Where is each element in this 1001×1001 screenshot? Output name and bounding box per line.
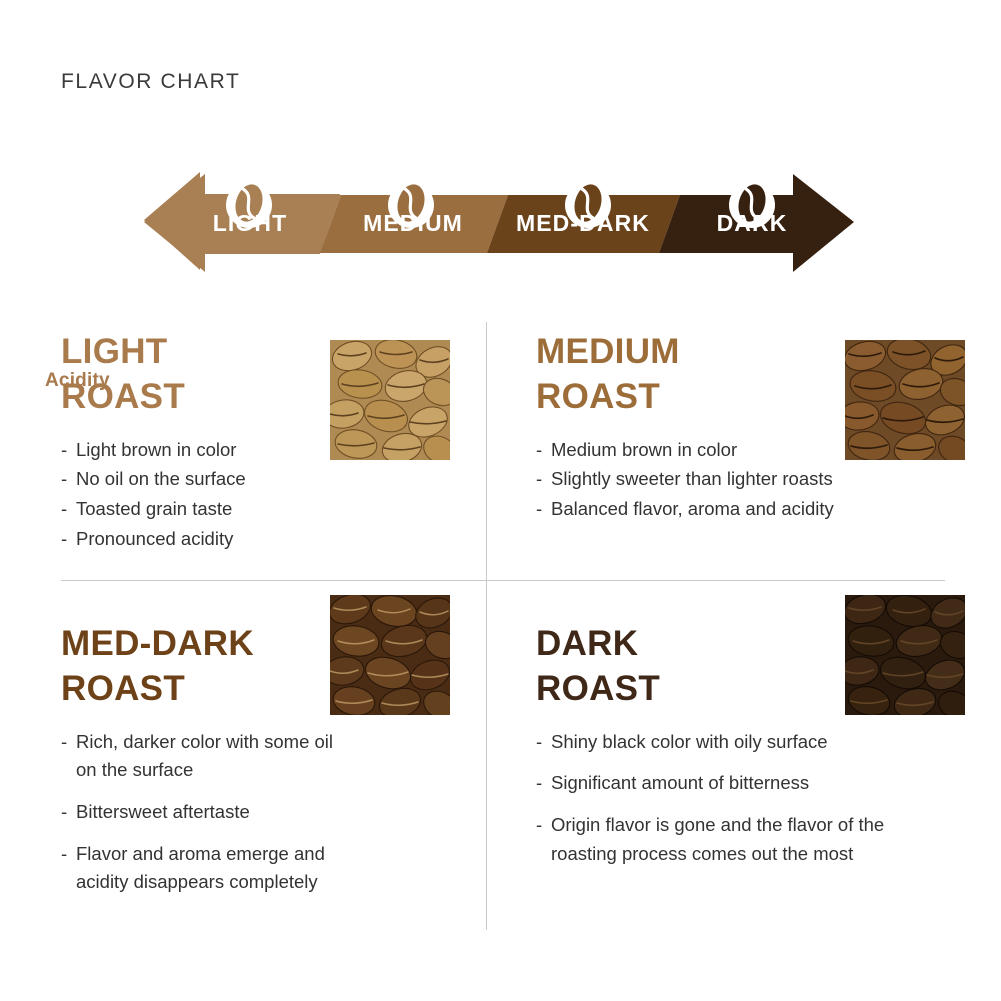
list-item: -Bittersweet aftertaste	[61, 798, 351, 827]
bullet-dash: -	[536, 495, 542, 524]
list-item-text: Toasted grain taste	[76, 498, 232, 519]
list-item: -Rich, darker color with some oil on the…	[61, 728, 351, 785]
scale-label-med-dark: MED-DARK	[516, 210, 650, 236]
bullet-dash: -	[61, 495, 67, 524]
quadrant-divider-horizontal	[61, 580, 945, 581]
bullet-dash: -	[536, 811, 542, 840]
list-item: -Pronounced acidity	[61, 525, 481, 554]
list-item-text: Significant amount of bitterness	[551, 772, 809, 793]
medium-roast-beans-photo	[845, 340, 965, 460]
list-item-text: Slightly sweeter than lighter roasts	[551, 468, 833, 489]
list-item: -No oil on the surface	[61, 465, 481, 494]
scale-label-dark: DARK	[717, 210, 788, 236]
roast-gradient-arrow: LIGHT MEDIUM MED-DARK DARK	[0, 160, 1001, 280]
list-item: -Shiny black color with oily surface	[536, 728, 916, 757]
bullet-dash: -	[61, 728, 67, 757]
list-item: -Origin flavor is gone and the flavor of…	[536, 811, 916, 868]
list-item-text: Balanced flavor, aroma and acidity	[551, 498, 834, 519]
list-item-text: No oil on the surface	[76, 468, 246, 489]
list-item-text: Flavor and aroma emerge and acidity disa…	[76, 843, 325, 893]
bullet-dash: -	[536, 728, 542, 757]
bullet-dash: -	[61, 840, 67, 869]
med-dark-roast-beans-photo	[330, 595, 450, 715]
light-roast-beans-photo	[330, 340, 450, 460]
dark-roast-beans-photo	[845, 595, 965, 715]
bullet-dash: -	[61, 465, 67, 494]
page-title: FLAVOR CHART	[61, 70, 240, 94]
list-item-text: Rich, darker color with some oil on the …	[76, 731, 333, 781]
list-item: -Significant amount of bitterness	[536, 769, 916, 798]
bullet-dash: -	[61, 525, 67, 554]
list-item-text: Bittersweet aftertaste	[76, 801, 250, 822]
bullet-dash: -	[536, 465, 542, 494]
quadrant-divider-vertical	[486, 322, 487, 930]
bullet-dash: -	[536, 769, 542, 798]
list-item-text: Pronounced acidity	[76, 528, 233, 549]
list-item-text: Medium brown in color	[551, 439, 737, 460]
list-item: -Balanced flavor, aroma and acidity	[536, 495, 956, 524]
list-item-text: Origin flavor is gone and the flavor of …	[551, 814, 884, 864]
bullet-dash: -	[61, 798, 67, 827]
list-item-text: Shiny black color with oily surface	[551, 731, 828, 752]
list-item: -Toasted grain taste	[61, 495, 481, 524]
roast-bullets-dark: -Shiny black color with oily surface -Si…	[536, 728, 916, 869]
scale-label-medium: MEDIUM	[363, 210, 463, 236]
roast-bullets-med-dark: -Rich, darker color with some oil on the…	[61, 728, 351, 897]
list-item: -Flavor and aroma emerge and acidity dis…	[61, 840, 351, 897]
roast-scale-band: Acidity Bitterness	[0, 160, 1001, 280]
list-item-text: Light brown in color	[76, 439, 236, 460]
scale-label-light: LIGHT	[213, 210, 288, 236]
bullet-dash: -	[536, 436, 542, 465]
bullet-dash: -	[61, 436, 67, 465]
list-item: -Slightly sweeter than lighter roasts	[536, 465, 956, 494]
